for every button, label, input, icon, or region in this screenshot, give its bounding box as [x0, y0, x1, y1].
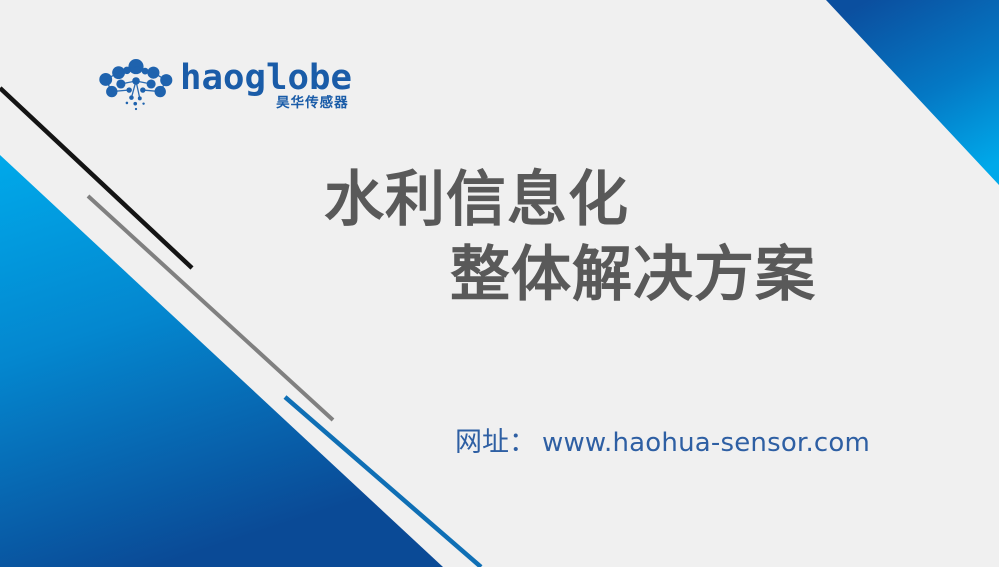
- presentation-slide: haoglobe 昊华传感器 水利信息化 整体解决方案 网址： www.haoh…: [0, 0, 999, 567]
- top-right-blue-triangle: [826, 0, 999, 185]
- company-logo[interactable]: haoglobe 昊华传感器: [98, 56, 349, 112]
- website-url[interactable]: www.haohua-sensor.com: [542, 428, 870, 458]
- title-line-1: 水利信息化: [310, 168, 910, 233]
- logo-wordmark: haoglobe: [180, 62, 352, 95]
- website-label: 网址：: [455, 420, 536, 459]
- slide-title: 水利信息化 整体解决方案: [310, 168, 910, 308]
- haoglobe-molecular-network-icon: [98, 56, 174, 112]
- title-line-2: 整体解决方案: [310, 243, 910, 308]
- website-line: 网址： www.haohua-sensor.com: [455, 420, 870, 459]
- logo-subtitle-chinese: 昊华传感器: [276, 97, 349, 111]
